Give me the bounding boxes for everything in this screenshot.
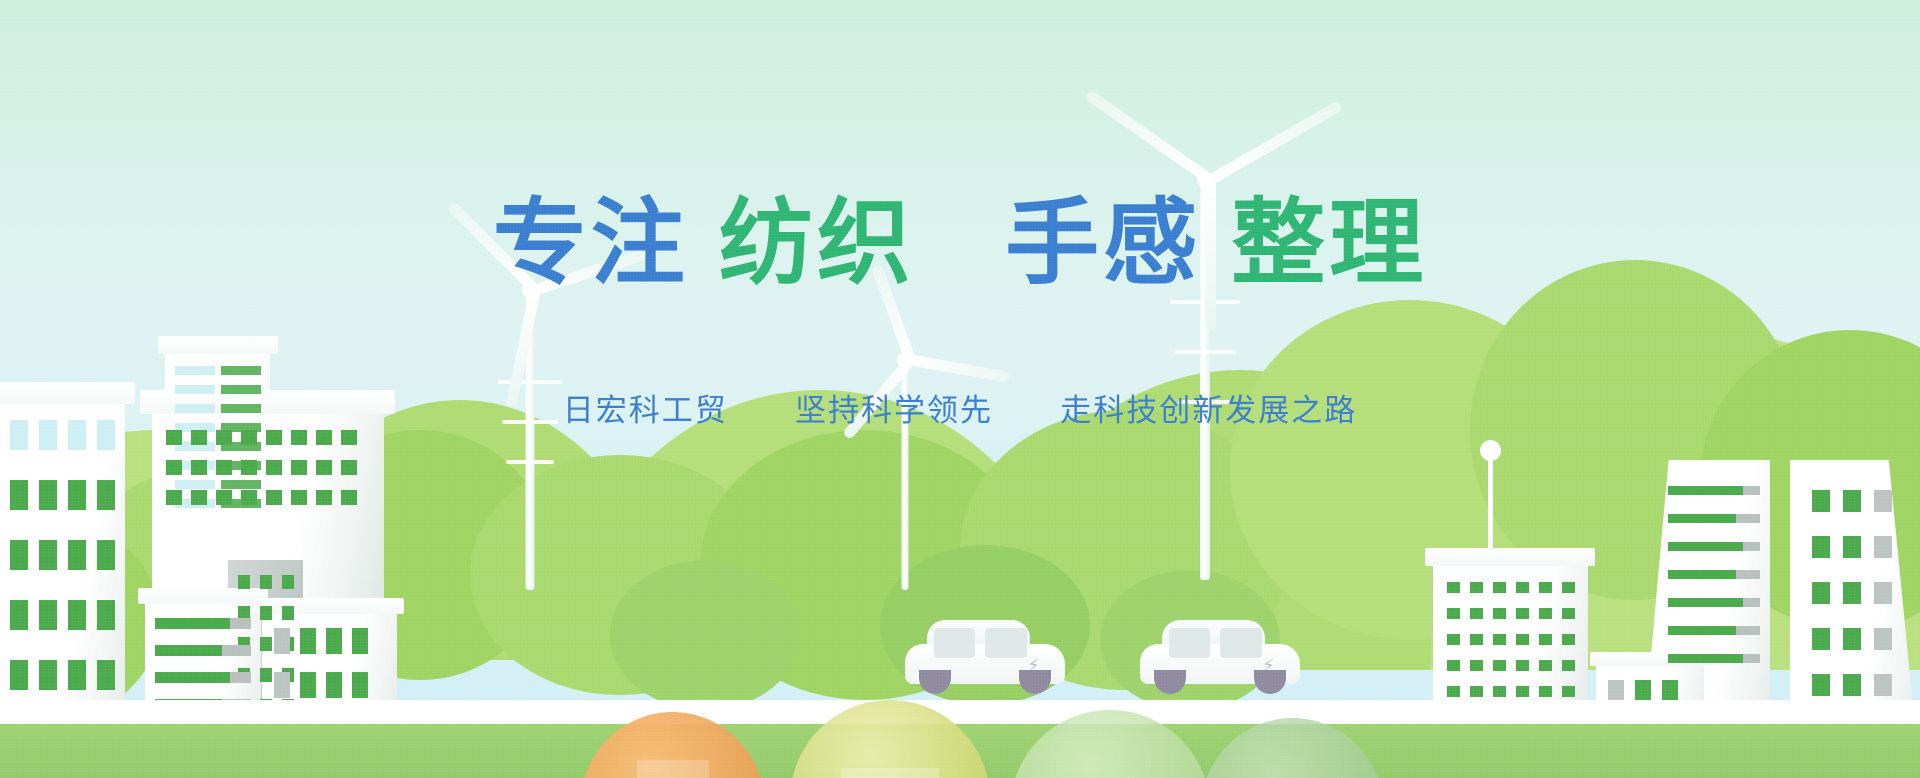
building-right-a-cap	[1425, 548, 1595, 566]
building-striped-cap	[158, 336, 278, 354]
beaker-green-deep	[1200, 718, 1385, 778]
car-right-wheel-front	[1154, 670, 1186, 694]
car-left-window-rear	[985, 628, 1027, 658]
subtitle-part-2: 坚持科学领先	[795, 385, 993, 430]
car-right-wheel-rear	[1254, 670, 1286, 694]
car-left-wheel-front	[919, 670, 951, 694]
beaker-orange-flask	[637, 760, 709, 778]
beaker-yellow-bubble	[790, 700, 990, 778]
tree-canopy-small-1	[610, 560, 800, 710]
subtitle-part-1: 日宏科工贸	[563, 385, 728, 430]
car-left-window-front	[934, 628, 976, 658]
beaker-green-pale-bubble	[1010, 710, 1210, 778]
page-subtitle: 日宏科工贸 坚持科学领先 走科技创新发展之路	[0, 385, 1920, 430]
headline-part-3: 手感	[1005, 196, 1201, 290]
car-left: ⚡	[905, 620, 1065, 694]
beaker-green-pale	[1010, 710, 1210, 778]
headline-part-4: 整理	[1231, 196, 1427, 290]
subtitle-part-3: 走科技创新发展之路	[1060, 385, 1357, 430]
antenna-ball	[1480, 440, 1501, 461]
page-title: 专注 纺织 手感 整理	[0, 196, 1920, 290]
car-left-wheel-rear	[1019, 670, 1051, 694]
building-mid-windows	[166, 430, 371, 560]
car-right: ⚡	[1140, 620, 1300, 694]
beaker-green-deep-bubble	[1200, 718, 1385, 778]
beaker-yellow: 300	[790, 700, 990, 778]
wind-turbine-left	[440, 290, 620, 590]
hero-banner: 专注 纺织 手感 整理 日宏科工贸 坚持科学领先 走科技创新发展之路	[0, 0, 1920, 778]
car-right-window-front	[1169, 628, 1211, 658]
beaker-yellow-flask	[841, 768, 939, 778]
headline-part-2: 纺织	[719, 196, 915, 290]
car-right-window-rear	[1220, 628, 1262, 658]
beaker-orange: 300 300 300 300	[580, 712, 765, 778]
headline-part-1: 专注	[493, 196, 689, 290]
